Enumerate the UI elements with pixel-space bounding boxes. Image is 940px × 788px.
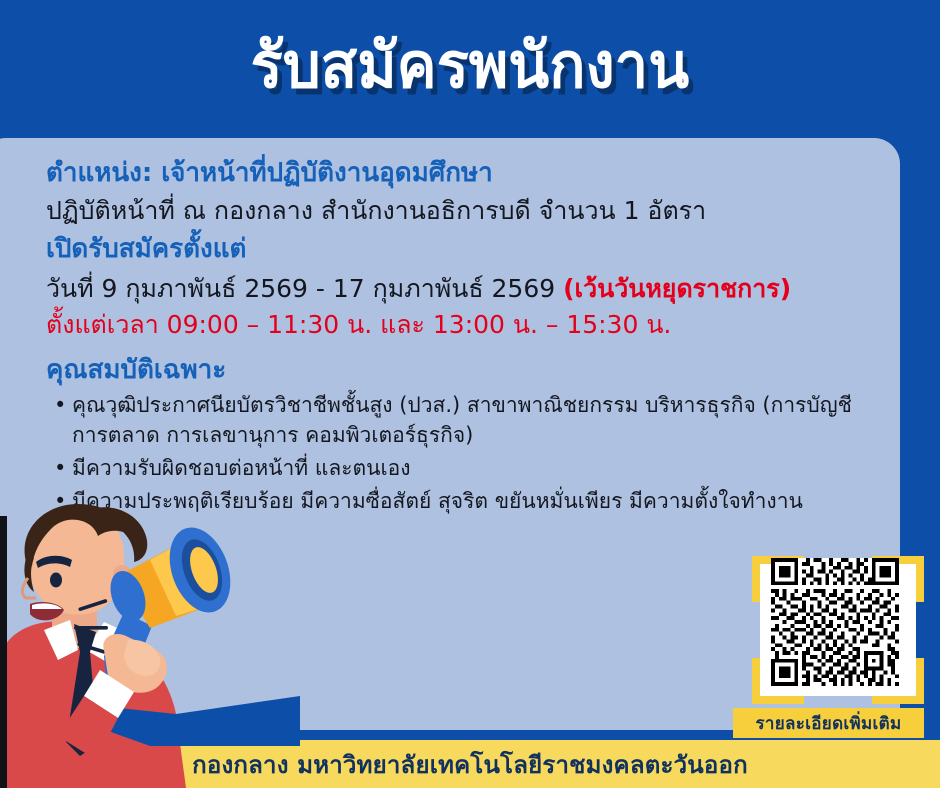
list-item-label: คุณวุฒิประกาศนียบัตรวิชาชีพชั้นสูง (ปวส.… xyxy=(72,393,852,447)
bullet-icon: • xyxy=(54,391,66,421)
qr-badge-label: รายละเอียดเพิ่มเติม xyxy=(756,710,902,737)
qr-code-icon[interactable] xyxy=(771,558,899,686)
qr-code-block[interactable]: รายละเอียดเพิ่มเติม xyxy=(752,556,924,728)
left-edge-strip xyxy=(0,516,7,788)
qualifications-label: คุณสมบัติเฉพาะ xyxy=(46,353,866,388)
list-item-label: มีความรับผิดชอบต่อหน้าที่ และตนเอง xyxy=(72,456,411,480)
qr-more-info-badge[interactable]: รายละเอียดเพิ่มเติม xyxy=(733,708,924,738)
content-card-inner: ตำแหน่ง: เจ้าหน้าที่ปฏิบัติงานอุดมศึกษา … xyxy=(46,138,866,520)
qr-frame xyxy=(752,556,924,704)
application-time-line: ตั้งแต่เวลา 09:00 – 11:30 น. และ 13:00 น… xyxy=(46,307,866,342)
man-with-megaphone-illustration xyxy=(0,500,300,788)
recruitment-poster: รับสมัครพนักงาน ตำแหน่ง: เจ้าหน้าที่ปฏิบ… xyxy=(0,0,940,788)
list-item: • คุณวุฒิประกาศนียบัตรวิชาชีพชั้นสูง (ปว… xyxy=(46,391,866,451)
bullet-icon: • xyxy=(54,454,66,484)
application-date-range: วันที่ 9 กุมภาพันธ์ 2569 - 17 กุมภาพันธ์… xyxy=(46,271,866,306)
date-exception-note: (เว้นวันหยุดราชการ) xyxy=(563,274,791,303)
date-range-text: วันที่ 9 กุมภาพันธ์ 2569 - 17 กุมภาพันธ์… xyxy=(46,274,563,303)
qualifications-list: • คุณวุฒิประกาศนียบัตรวิชาชีพชั้นสูง (ปว… xyxy=(46,391,866,516)
page-title: รับสมัครพนักงาน xyxy=(251,34,690,97)
position-detail: ปฏิบัติหน้าที่ ณ กองกลาง สำนักงานอธิการบ… xyxy=(46,193,866,228)
list-item: • มีความรับผิดชอบต่อหน้าที่ และตนเอง xyxy=(46,454,866,484)
poster-header: รับสมัครพนักงาน xyxy=(0,0,940,130)
application-open-label: เปิดรับสมัครตั้งแต่ xyxy=(46,232,866,267)
position-title: ตำแหน่ง: เจ้าหน้าที่ปฏิบัติงานอุดมศึกษา xyxy=(46,156,866,191)
